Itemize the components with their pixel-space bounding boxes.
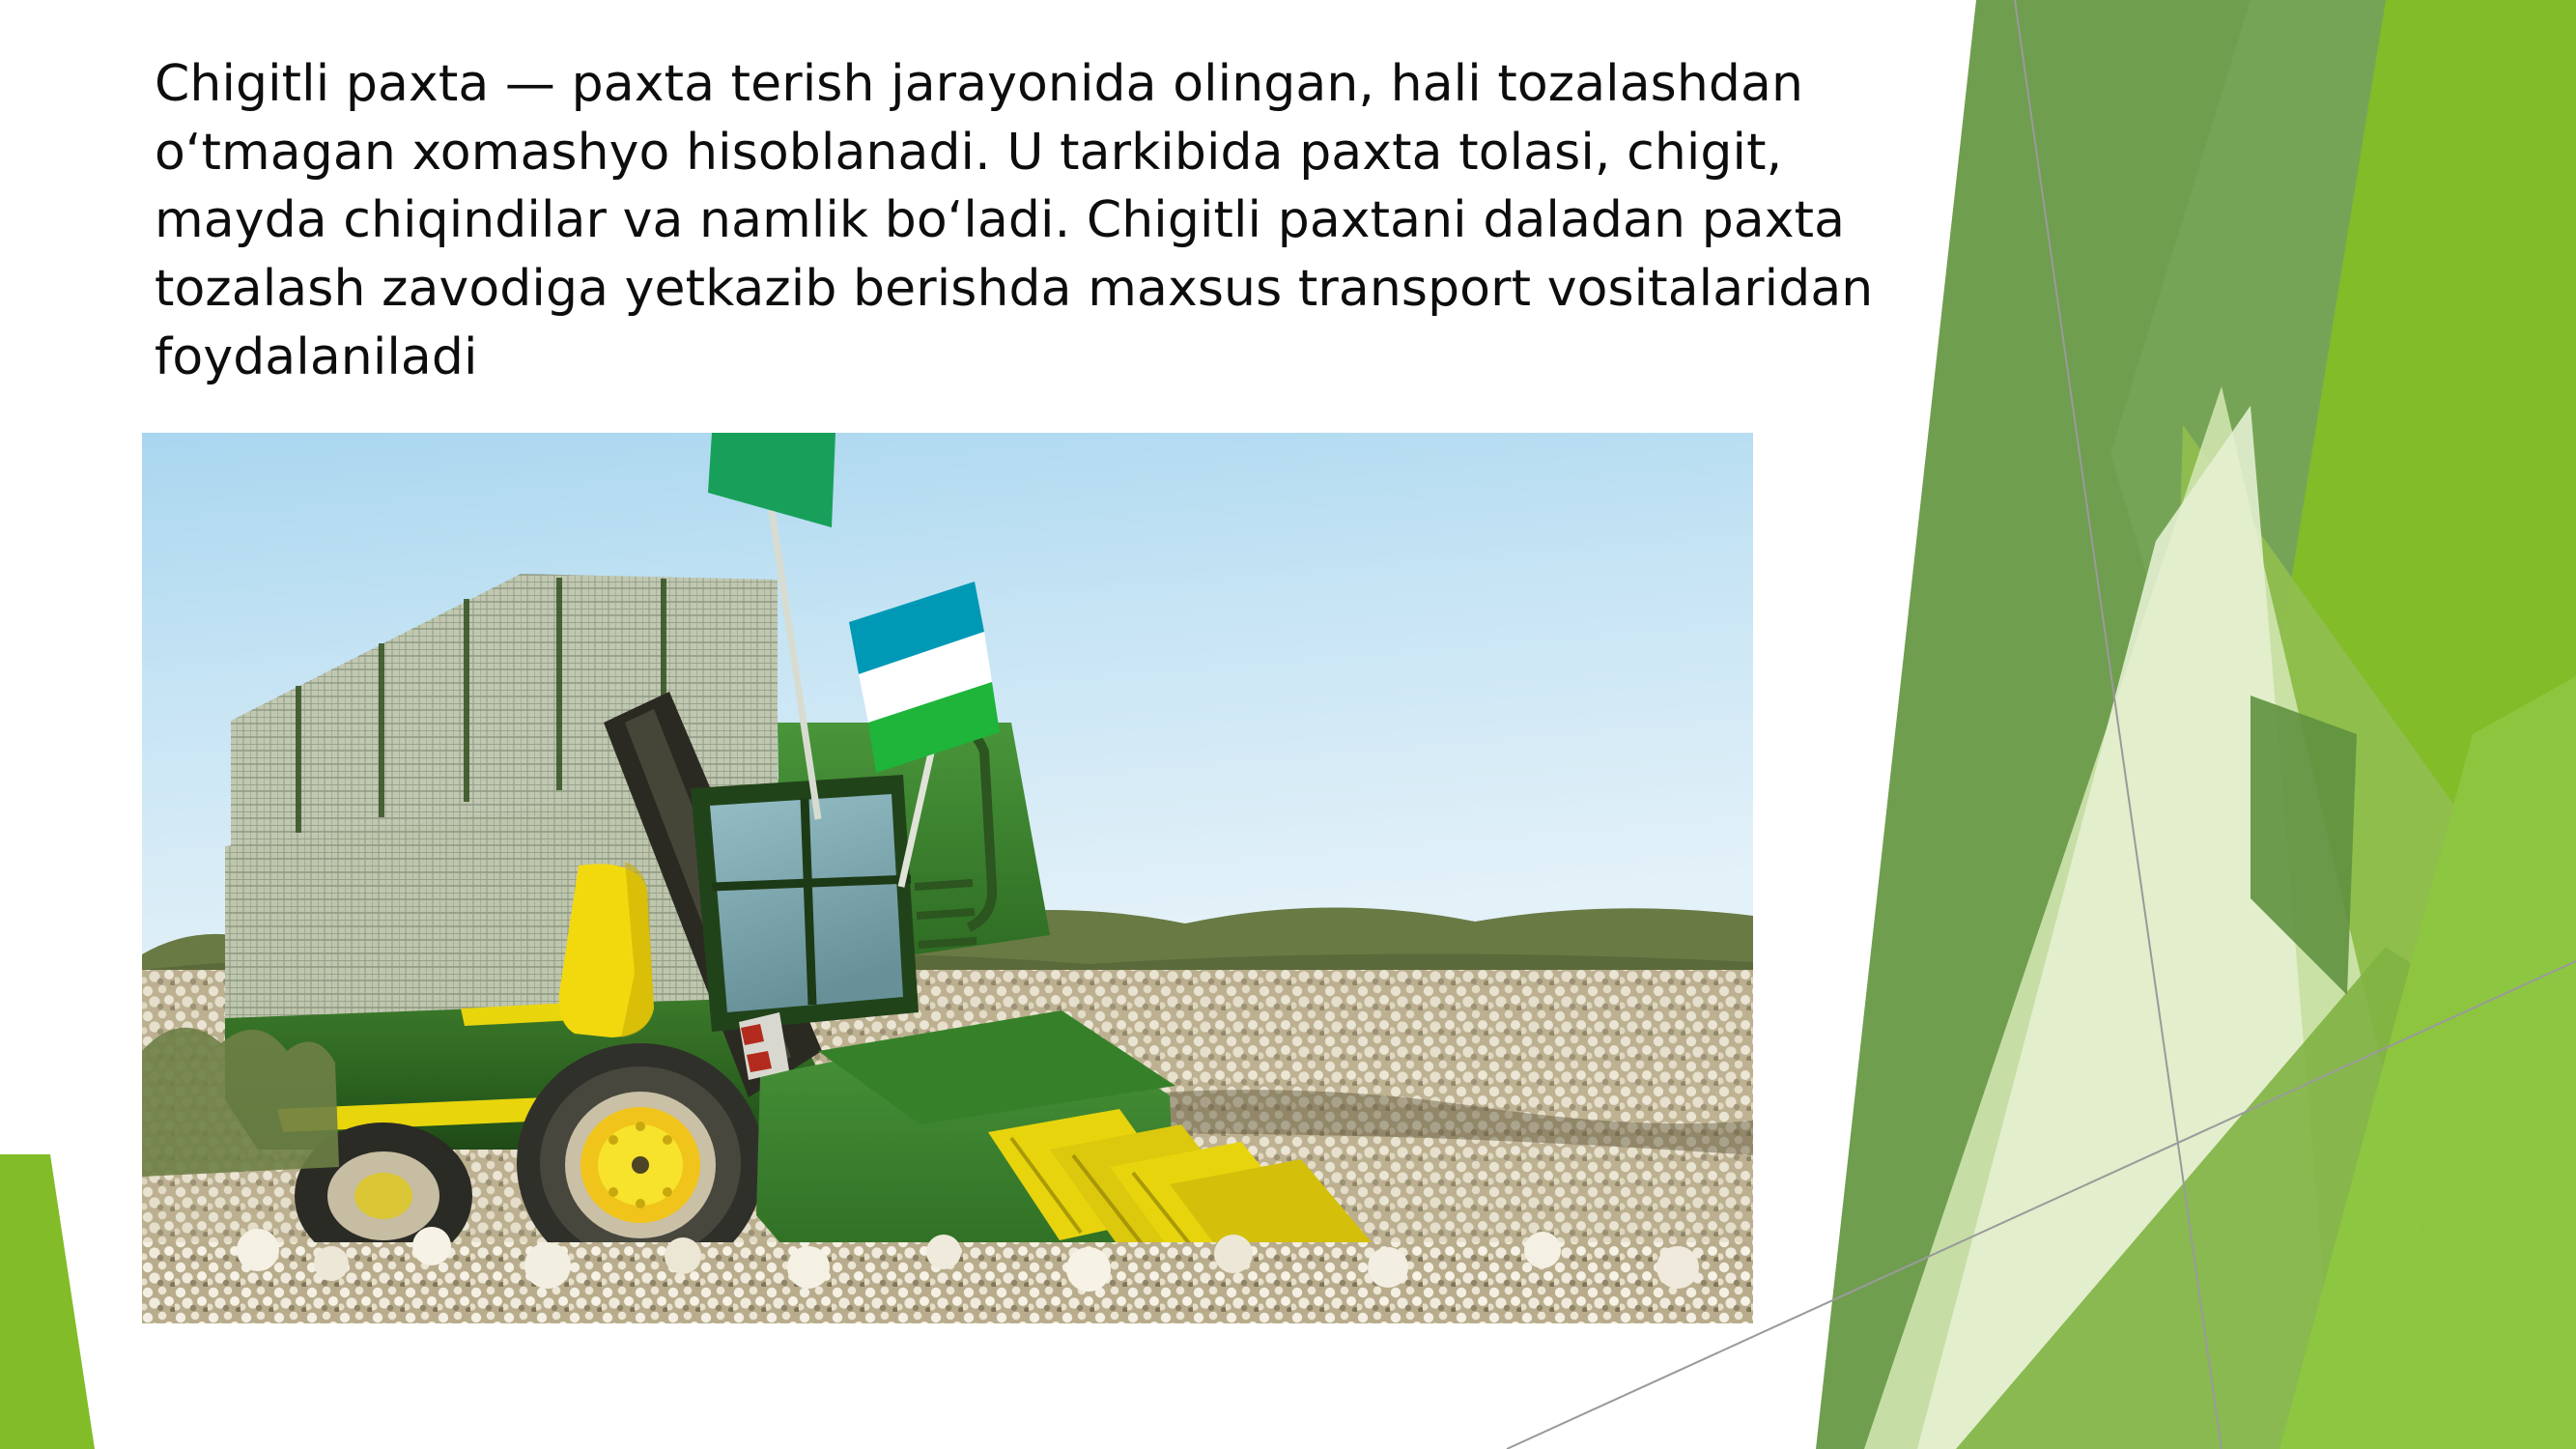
slide-body-text: Chigitli paxta — paxta terish jarayonida… bbox=[155, 50, 1970, 392]
decor-shape-mid-right-facet bbox=[2154, 425, 2576, 1449]
cotton-harvester-illustration: 9970 bbox=[142, 433, 1753, 1323]
decor-shape-lower-right-block bbox=[2279, 676, 2576, 1449]
decor-shape-mid-sweep bbox=[1956, 947, 2576, 1449]
cotton-harvester-photo: 9970 bbox=[142, 433, 1753, 1323]
decor-shape-pale-sliver bbox=[1917, 406, 2337, 1449]
decor-shape-upper-right-diagonal bbox=[2313, 0, 2576, 947]
decor-hairline-diagonal-a bbox=[2015, 0, 2222, 1449]
presentation-slide: Chigitli paxta — paxta terish jarayonida… bbox=[0, 0, 2576, 1449]
photo-left-bush bbox=[142, 1028, 339, 1177]
decor-shape-pale-triangle bbox=[1864, 386, 2473, 1449]
decor-shape-upper-notch-shadow bbox=[2250, 696, 2357, 995]
decor-shape-right-bright bbox=[2048, 0, 2576, 1449]
decor-shape-bottom-left-wedge bbox=[0, 1154, 95, 1449]
decor-shape-right-notch bbox=[2110, 0, 2386, 889]
